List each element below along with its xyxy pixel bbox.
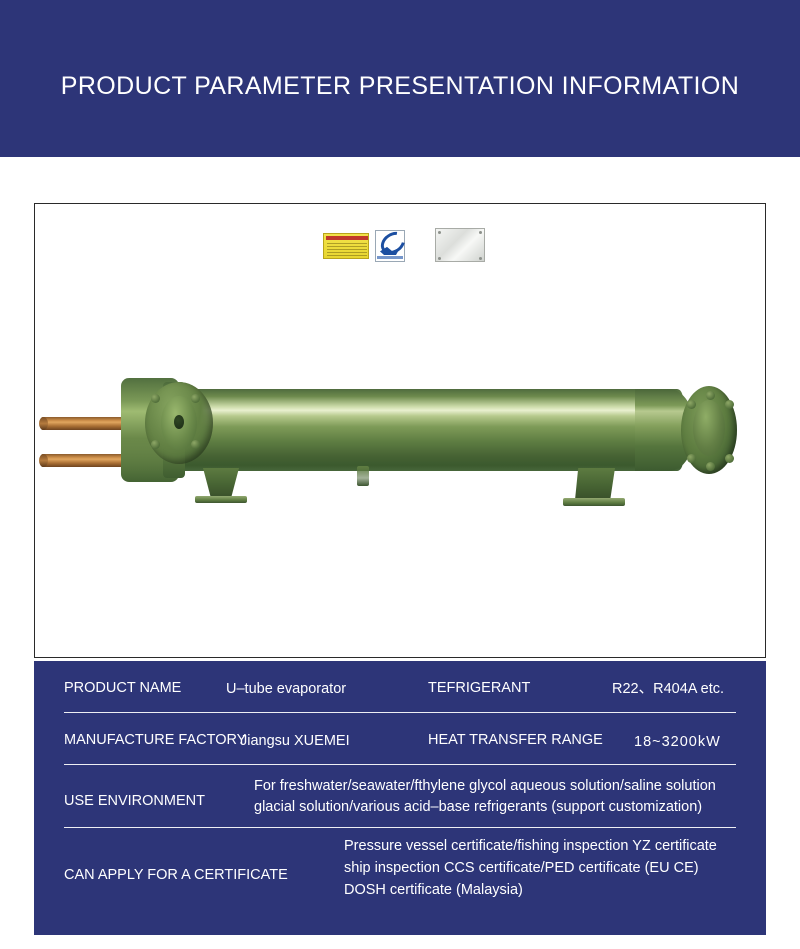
page-title: PRODUCT PARAMETER PRESENTATION INFORMATI… (0, 72, 800, 101)
flange-bolt (191, 394, 200, 403)
flange-bolt (706, 462, 715, 471)
certification-sticker-text (377, 256, 403, 259)
flange-bolt (151, 440, 160, 449)
warning-sticker (323, 233, 369, 259)
warning-sticker-line (327, 246, 367, 247)
spec-key-product-name: PRODUCT NAME (64, 678, 181, 699)
nameplate-rivet (479, 257, 482, 260)
spec-value-refrigerant: R22、R404A etc. (612, 679, 724, 700)
flange-bolt (191, 440, 200, 449)
table-row: USE ENVIRONMENT For freshwater/seawater/… (34, 765, 766, 828)
spec-key-certificate: CAN APPLY FOR A CERTIFICATE (64, 865, 288, 886)
spec-value-use-environment: For freshwater/seawater/fthylene glycol … (254, 776, 754, 819)
warning-sticker-line (327, 255, 367, 256)
right-flange-inner-disc (693, 400, 725, 456)
support-foot-left (203, 468, 239, 498)
header-banner: PRODUCT PARAMETER PRESENTATION INFORMATI… (0, 0, 800, 157)
table-row: CAN APPLY FOR A CERTIFICATE Pressure ves… (34, 828, 766, 908)
table-row: MANUFACTURE FACTORY Jiangsu XUEMEI HEAT … (34, 713, 766, 765)
support-foot-right (575, 468, 615, 500)
product-image-panel (34, 203, 766, 658)
table-row: PRODUCT NAME U–tube evaporator TEFRIGERA… (34, 661, 766, 713)
copper-outlet-pipe (41, 454, 123, 467)
pipe-end-cap-bottom (39, 454, 48, 467)
flange-bolt (725, 400, 734, 409)
spec-value-use-environment-line-1: For freshwater/seawater/fthylene glycol … (254, 776, 754, 797)
spec-key-use-environment: USE ENVIRONMENT (64, 791, 205, 812)
warning-sticker-line (327, 252, 367, 253)
spec-value-certificate-line-3: DOSH certificate (Malaysia) (344, 880, 774, 902)
specification-table: PRODUCT NAME U–tube evaporator TEFRIGERA… (34, 661, 766, 935)
flange-bolt (687, 454, 696, 463)
warning-sticker-line (327, 243, 367, 244)
spec-key-refrigerant: TEFRIGERANT (428, 678, 530, 699)
flange-bolt (687, 400, 696, 409)
nameplate-rivet (438, 231, 441, 234)
flange-bolt (706, 391, 715, 400)
left-flange-hub (174, 415, 184, 429)
spec-value-use-environment-line-2: glacial solution/various acid–base refri… (254, 797, 754, 818)
nameplate-rivet (438, 257, 441, 260)
spec-value-manufacture-factory: Jiangsu XUEMEI (240, 731, 350, 752)
warning-sticker-title-bar (326, 236, 368, 240)
shell-body (153, 389, 683, 471)
spec-value-heat-transfer-range: 18~3200kW (634, 732, 721, 753)
warning-sticker-line (327, 249, 367, 250)
metal-nameplate (435, 228, 485, 262)
spec-value-certificate-line-2: ship inspection CCS certificate/PED cert… (344, 858, 774, 880)
flange-bolt (725, 454, 734, 463)
spec-value-certificate-line-1: Pressure vessel certificate/fishing insp… (344, 836, 774, 858)
spec-value-certificate: Pressure vessel certificate/fishing insp… (344, 836, 774, 901)
support-foot-right-base (563, 498, 625, 506)
support-foot-left-base (195, 496, 247, 503)
drain-nozzle (357, 466, 369, 486)
spec-key-heat-transfer-range: HEAT TRANSFER RANGE (428, 730, 603, 751)
spec-key-manufacture-factory: MANUFACTURE FACTORY (64, 730, 246, 751)
spec-value-product-name: U–tube evaporator (226, 679, 346, 700)
pipe-end-cap-top (39, 417, 48, 430)
nameplate-rivet (479, 231, 482, 234)
flange-bolt (151, 394, 160, 403)
copper-inlet-pipe (41, 417, 123, 430)
product-photo-evaporator (35, 204, 766, 658)
